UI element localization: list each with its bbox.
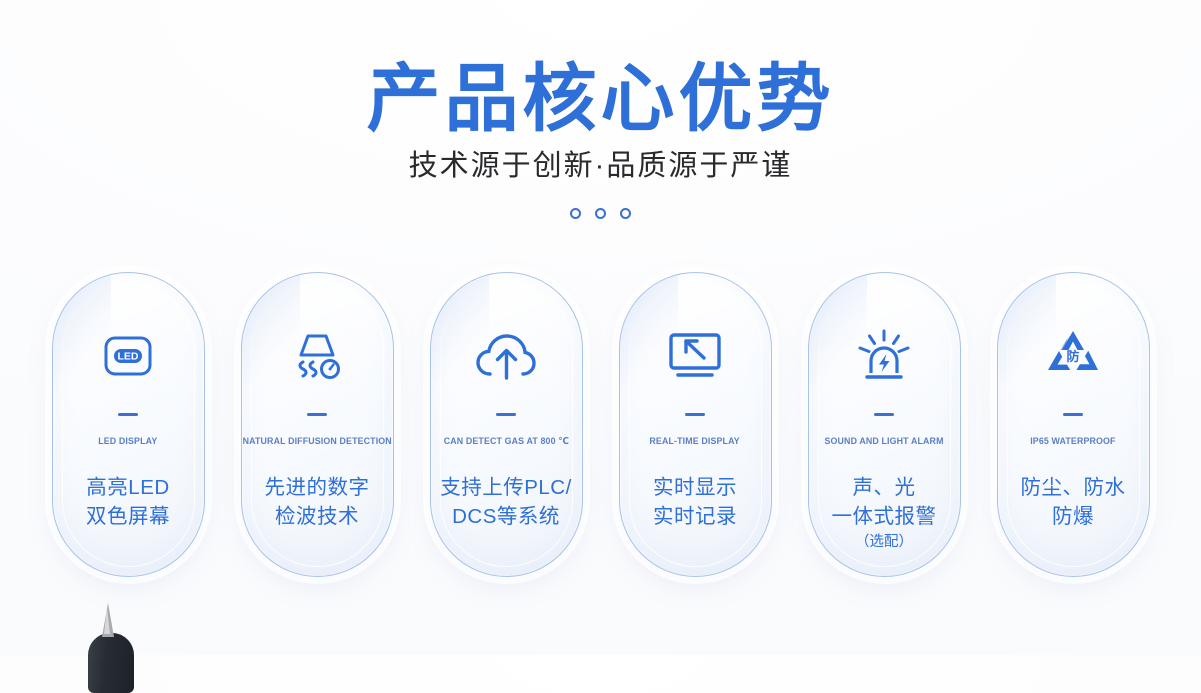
card-en-label: IP65 WATERPROOF	[1030, 436, 1115, 447]
card-cn-label: 声、光 一体式报警	[832, 473, 937, 531]
svg-text:防: 防	[1066, 349, 1079, 364]
card-cn-label: 高亮LED 双色屏幕	[86, 473, 170, 531]
card-cn-label: 防尘、防水 防爆	[1021, 473, 1126, 531]
card-divider	[496, 413, 516, 416]
feature-card-sound-light-alarm[interactable]: SOUND AND LIGHT ALARM 声、光 一体式报警 （选配）	[808, 272, 961, 577]
feature-card-realtime-display[interactable]: REAL-TIME DISPLAY 实时显示 实时记录	[619, 272, 772, 577]
diffusion-detector-icon	[288, 321, 346, 391]
svg-text:LED: LED	[118, 351, 139, 363]
monitor-arrow-icon	[666, 321, 724, 391]
card-en-label: SOUND AND LIGHT ALARM	[824, 436, 943, 447]
feature-card-ip65-waterproof[interactable]: 防 IP65 WATERPROOF 防尘、防水 防爆	[997, 272, 1150, 577]
feature-card-diffusion-detection[interactable]: NATURAL DIFFUSION DETECTION 先进的数字 检波技术	[241, 272, 394, 577]
card-divider	[307, 413, 327, 416]
dot-icon	[570, 208, 581, 219]
led-screen-icon: LED	[100, 321, 156, 391]
card-divider	[685, 413, 705, 416]
probe-tip-highlight	[104, 607, 110, 634]
alarm-siren-icon	[855, 321, 913, 391]
card-en-label: NATURAL DIFFUSION DETECTION	[242, 436, 391, 447]
dot-icon	[620, 208, 631, 219]
card-divider	[118, 413, 138, 416]
gas-detector-probe-image	[74, 603, 146, 681]
page-subtitle: 技术源于创新·品质源于严谨	[0, 152, 1201, 181]
card-en-label: LED DISPLAY	[98, 436, 157, 447]
cloud-upload-icon	[476, 321, 536, 391]
card-divider	[1063, 413, 1083, 416]
card-cn-label: 先进的数字 检波技术	[265, 473, 370, 531]
card-en-label: REAL-TIME DISPLAY	[650, 436, 740, 447]
card-cn-label: 支持上传PLC/ DCS等系统	[440, 473, 572, 531]
page-title: 产品核心优势	[0, 62, 1201, 136]
page-root: 产品核心优势 技术源于创新·品质源于严谨 LED LED DISPLAY 高亮L…	[0, 0, 1201, 655]
card-en-label: CAN DETECT GAS AT 800 ℃	[443, 436, 568, 447]
dot-icon	[595, 208, 606, 219]
card-cn-sublabel: （选配）	[855, 533, 913, 553]
feature-card-led-display[interactable]: LED LED DISPLAY 高亮LED 双色屏幕	[52, 272, 205, 577]
probe-body	[88, 633, 134, 693]
decorative-dots	[0, 208, 1201, 219]
card-cn-label: 实时显示 实时记录	[653, 473, 737, 531]
feature-card-cloud-upload[interactable]: CAN DETECT GAS AT 800 ℃ 支持上传PLC/ DCS等系统	[430, 272, 583, 577]
feature-card-row: LED LED DISPLAY 高亮LED 双色屏幕 NATURAL DIF	[0, 272, 1201, 578]
recycle-protect-icon: 防	[1043, 321, 1103, 391]
card-divider	[874, 413, 894, 416]
